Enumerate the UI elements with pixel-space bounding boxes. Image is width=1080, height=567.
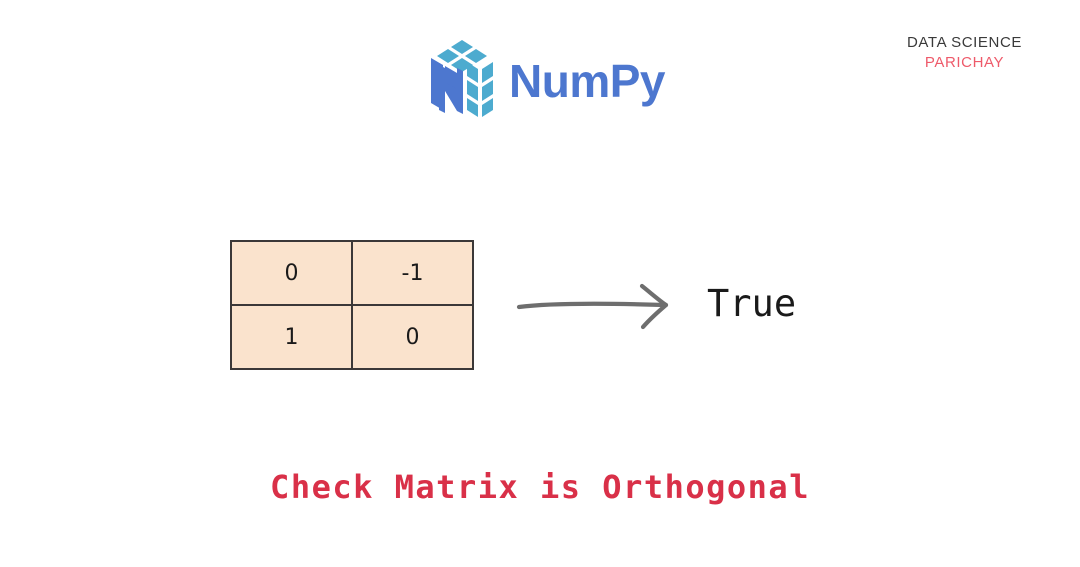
matrix-cell-r0c1: -1	[352, 241, 473, 305]
table-row: 0 -1	[231, 241, 473, 305]
page-title: Check Matrix is Orthogonal	[0, 468, 1080, 506]
slide-canvas: { "logo": { "icon_name": "numpy-cube-ico…	[0, 0, 1080, 567]
matrix-cell-r1c0: 1	[231, 305, 352, 369]
table-row: 1 0	[231, 305, 473, 369]
matrix-cell-r1c1: 0	[352, 305, 473, 369]
brand-mark: DATA SCIENCE PARICHAY	[907, 33, 1022, 74]
matrix-cell-r0c0: 0	[231, 241, 352, 305]
input-matrix: 0 -1 1 0	[230, 240, 474, 370]
numpy-wordmark: NumPy	[509, 58, 665, 104]
brand-line-parichay: PARICHAY	[907, 53, 1022, 73]
hand-drawn-right-arrow-icon	[505, 278, 685, 333]
brand-line-data-science: DATA SCIENCE	[907, 33, 1022, 53]
numpy-logo: NumPy	[425, 38, 665, 118]
numpy-cube-icon	[425, 38, 499, 118]
result-value: True	[707, 285, 796, 322]
